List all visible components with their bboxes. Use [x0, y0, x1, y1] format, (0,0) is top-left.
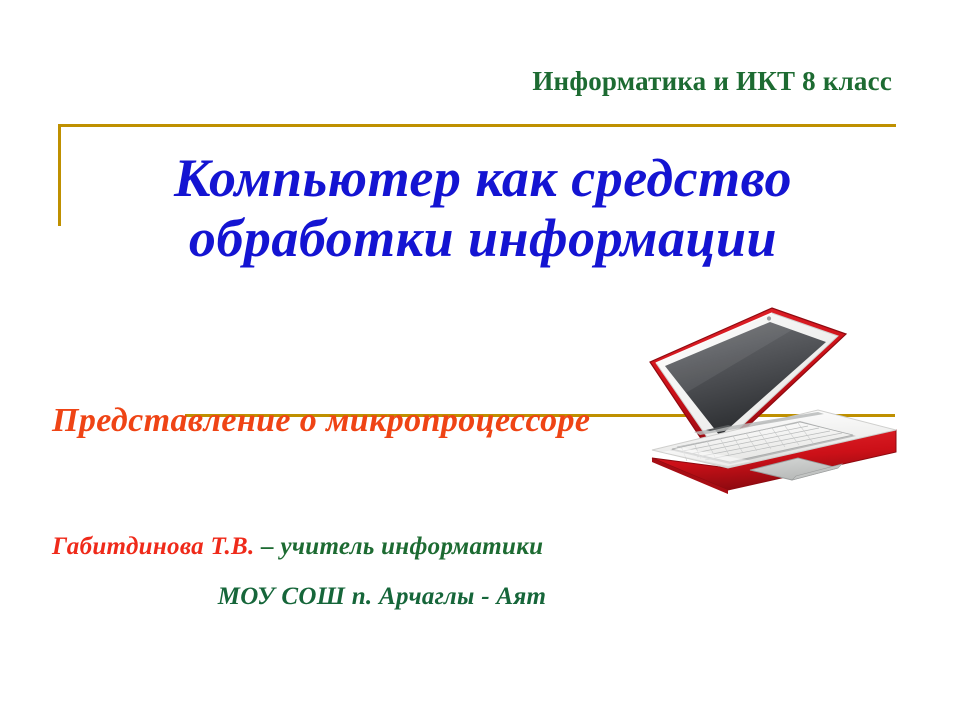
slide-header-subject: Информатика и ИКТ 8 класс: [0, 66, 892, 97]
author-credit: Габитдинова Т.В. – учитель информатики: [52, 533, 712, 561]
author-role: – учитель информатики: [255, 533, 544, 560]
gold-rule-vertical: [58, 124, 61, 226]
presentation-slide: Информатика и ИКТ 8 класс Компьютер как …: [0, 0, 960, 720]
laptop-base: [652, 410, 896, 494]
laptop-illustration: [632, 302, 928, 552]
webcam-icon: [767, 316, 771, 320]
school-name: МОУ СОШ п. Арчаглы - Аят: [52, 583, 712, 611]
page-title: Компьютер как средство обработки информа…: [68, 148, 898, 269]
gold-rule-top: [58, 124, 896, 127]
author-name: Габитдинова Т.В.: [52, 533, 255, 560]
